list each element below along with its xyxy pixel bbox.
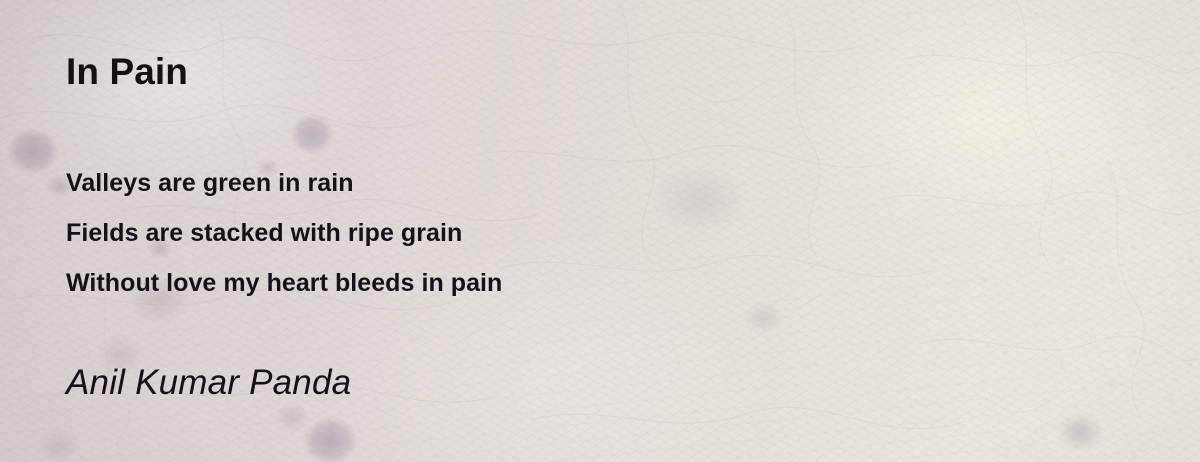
poem-line: Fields are stacked with ripe grain xyxy=(66,208,502,258)
poem-line: Without love my heart bleeds in pain xyxy=(66,258,502,308)
poem-line: Valleys are green in rain xyxy=(66,158,502,208)
page-title: In Pain xyxy=(66,50,188,94)
poem-author: Anil Kumar Panda xyxy=(66,363,351,403)
poem-image-card: In Pain Valleys are green in rain Fields… xyxy=(0,0,1200,462)
poem-body: Valleys are green in rain Fields are sta… xyxy=(66,158,502,308)
